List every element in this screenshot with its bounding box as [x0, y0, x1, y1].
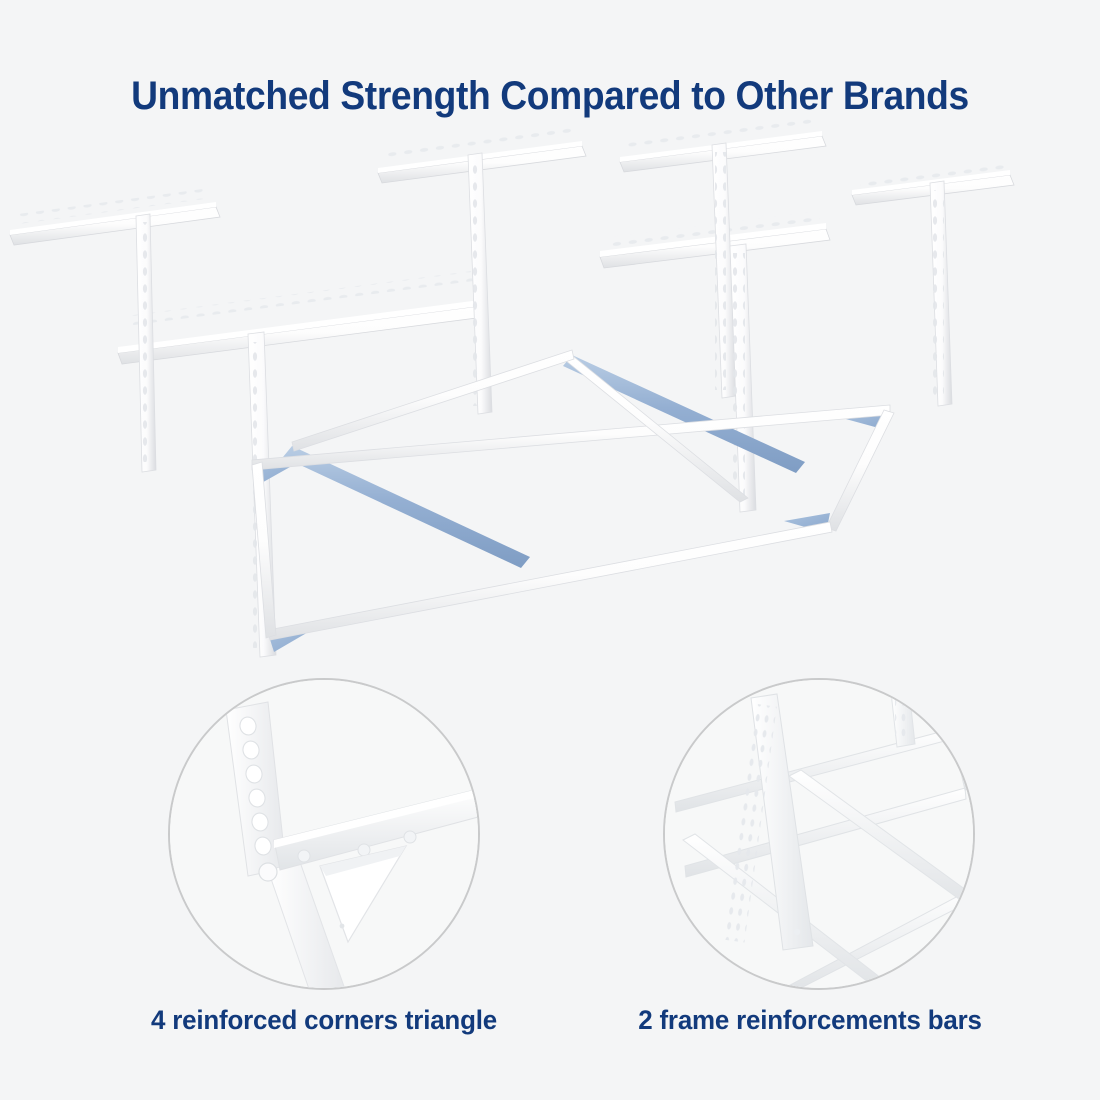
caption-corner-triangle: 4 reinforced corners triangle — [103, 1005, 545, 1036]
frame-rail-right — [826, 410, 894, 531]
caption-frame-reinforcement: 2 frame reinforcements bars — [589, 1005, 1031, 1036]
detail-circle-corner-triangle — [168, 678, 480, 990]
vertical-post-6 — [730, 244, 756, 512]
detail-circle-frame-reinforcement — [663, 678, 975, 990]
vertical-post-1 — [136, 214, 156, 472]
vertical-post-4 — [930, 181, 952, 406]
ceiling-bracket-5 — [118, 271, 484, 364]
infographic-page: Unmatched Strength Compared to Other Bra… — [0, 0, 1100, 1100]
ceiling-bracket-1 — [10, 189, 220, 245]
hero-product-image — [0, 110, 1100, 680]
frame-reinforcement-closeup — [665, 680, 975, 990]
vertical-post-2 — [468, 153, 492, 414]
rack-frame — [252, 350, 894, 640]
ceiling-brackets — [10, 117, 1014, 364]
corner-triangle-closeup — [170, 680, 480, 990]
garage-rack-illustration — [0, 110, 1100, 680]
closeup-bolt-knob — [259, 863, 277, 881]
frame-rail-front — [268, 522, 832, 640]
